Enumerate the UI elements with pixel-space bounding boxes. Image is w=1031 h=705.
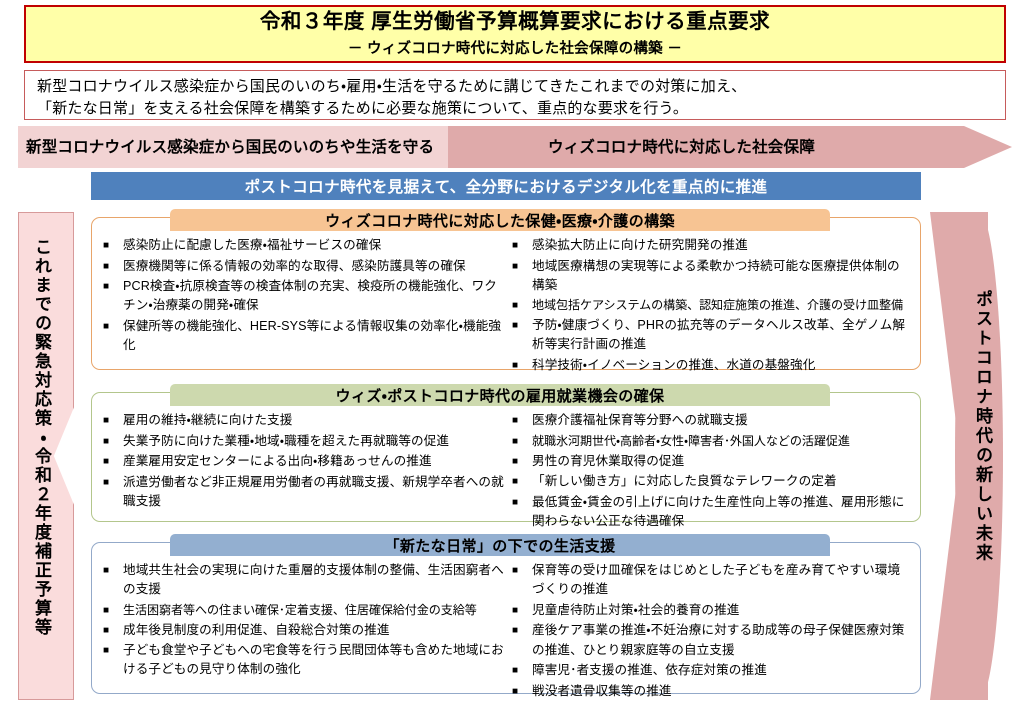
band-label-social-security: ウィズコロナ時代に対応した社会保障 [548,135,815,157]
bullet-square-icon: ■ [512,684,532,699]
list-item: ■生活困窮者等への住まい確保･定着支援、住居確保給付金の支給等 [103,601,505,619]
bullet-square-icon: ■ [512,663,532,678]
lead-line-2: 「新たな日常」を支える社会保障を構築するために必要な施策について、重点的な要求を… [37,98,995,120]
bullet-square-icon: ■ [103,563,123,578]
section-header-health-medical-care: ウィズコロナ時代に対応した保健・医療・介護の構築 [170,209,830,231]
bullet-square-icon: ■ [103,643,123,658]
transition-arrow-band: 新型コロナウイルス感染症から国民のいのちや生活を守る ウィズコロナ時代に対応した… [18,126,1012,168]
section-3-left-column: ■地域共生社会の実現に向けた重層的支援体制の整備、生活困窮者への支援 ■生活困窮… [103,561,505,681]
list-item: ■医療機関等に係る情報の効率的な取得、感染防護具等の確保 [103,257,505,276]
list-item: ■男性の育児休業取得の促進 [512,452,912,471]
bullet-square-icon: ■ [103,603,123,618]
list-item: ■予防・健康づくり、PHRの拡充等のデータヘルス改革、全ゲノム解析等実行計画の推… [512,316,912,354]
list-item: ■地域包括ケアシステムの構築、認知症施策の推進、介護の受け皿整備 [512,296,912,314]
lead-line-1: 新型コロナウイルス感染症から国民のいのち・雇用・生活を守るために講じてきたこれま… [37,76,995,98]
left-vertical-arrow-label: これまでの緊急対応策・令和２年度補正予算等 [24,238,50,678]
page-subtitle: － ウィズコロナ時代に対応した社会保障の構築 － [348,37,682,58]
bullet-square-icon: ■ [103,279,123,294]
section-header-employment-opportunity: ウィズ・ポストコロナ時代の雇用就業機会の確保 [170,384,830,406]
bullet-square-icon: ■ [103,623,123,638]
bullet-square-icon: ■ [103,413,123,428]
bullet-square-icon: ■ [103,259,123,274]
bullet-square-icon: ■ [512,298,532,313]
bullet-square-icon: ■ [512,563,532,578]
list-item: ■障害児･者支援の推進、依存症対策の推進 [512,661,912,680]
list-item: ■成年後見制度の利用促進、自殺総合対策の推進 [103,621,505,640]
infographic-page: 令和３年度 厚生労働省予算概算要求における重点要求 － ウィズコロナ時代に対応し… [0,0,1031,705]
list-item: ■科学技術・イノベーションの推進、水道の基盤強化 [512,356,912,375]
bullet-square-icon: ■ [103,475,123,490]
section-2-left-column: ■雇用の維持・継続に向けた支援 ■失業予防に向けた業種・地域・職種を超えた再就職… [103,411,505,513]
bullet-square-icon: ■ [512,413,532,428]
bullet-square-icon: ■ [512,434,532,449]
bullet-square-icon: ■ [103,319,123,334]
list-item: ■失業予防に向けた業種・地域・職種を超えた再就職等の促進 [103,432,505,451]
list-item: ■戦没者遺骨収集等の推進 [512,682,912,701]
bullet-square-icon: ■ [103,238,123,253]
section-1-right-column: ■感染拡大防止に向けた研究開発の推進 ■地域医療構想の実現等による柔軟かつ持続可… [512,236,912,377]
list-item: ■保育等の受け皿確保をはじめとした子どもを産み育てやすい環境づくりの推進 [512,561,912,599]
section-2-right-column: ■医療介護福祉保育等分野への就職支援 ■就職氷河期世代・高齢者・女性・障害者･外… [512,411,912,533]
list-item: ■地域共生社会の実現に向けた重層的支援体制の整備、生活困窮者への支援 [103,561,505,599]
digital-promotion-label: ポストコロナ時代を見据えて、全分野におけるデジタル化を重点的に推進 [245,175,768,197]
list-item: ■就職氷河期世代・高齢者・女性・障害者･外国人などの活躍促進 [512,432,912,450]
bullet-square-icon: ■ [512,495,532,510]
list-item: ■最低賃金・賃金の引上げに向けた生産性向上等の推進、雇用形態に関わらない公正な待… [512,493,912,531]
list-item: ■産業雇用安定センターによる出向・移籍あっせんの推進 [103,452,505,471]
bullet-square-icon: ■ [512,358,532,373]
list-item: ■「新しい働き方」に対応した良質なテレワークの定着 [512,472,912,491]
list-item: ■産後ケア事業の推進・不妊治療に対する助成等の母子保健医療対策の推進、ひとり親家… [512,621,912,659]
page-title: 令和３年度 厚生労働省予算概算要求における重点要求 [260,10,770,34]
section-header-label: 「新たな日常」の下での生活支援 [384,535,615,556]
bullet-square-icon: ■ [103,454,123,469]
list-item: ■児童虐待防止対策・社会的養育の推進 [512,601,912,620]
bullet-square-icon: ■ [512,454,532,469]
band-label-protect-lives: 新型コロナウイルス感染症から国民のいのちや生活を守る [26,135,434,157]
right-vertical-arrow-label: ポストコロナ時代の新しい未来 [967,290,991,630]
bullet-square-icon: ■ [512,238,532,253]
list-item: ■地域医療構想の実現等による柔軟かつ持続可能な医療提供体制の構築 [512,257,912,295]
list-item: ■派遣労働者など非正規雇用労働者の再就職支援、新規学卒者への就職支援 [103,473,505,511]
list-item: ■保健所等の機能強化、HER-SYS等による情報収集の効率化・機能強化 [103,317,505,355]
section-1-left-column: ■感染防止に配慮した医療・福祉サービスの確保 ■医療機関等に係る情報の効率的な取… [103,236,505,357]
digital-promotion-bar: ポストコロナ時代を見据えて、全分野におけるデジタル化を重点的に推進 [91,172,921,200]
section-header-new-normal-living-support: 「新たな日常」の下での生活支援 [170,534,830,556]
bullet-square-icon: ■ [512,474,532,489]
bullet-square-icon: ■ [512,259,532,274]
section-header-label: ウィズコロナ時代に対応した保健・医療・介護の構築 [325,210,675,231]
list-item: ■PCR検査・抗原検査等の検査体制の充実、検疫所の機能強化、ワクチン・治療薬の開… [103,277,505,315]
list-item: ■感染防止に配慮した医療・福祉サービスの確保 [103,236,505,255]
list-item: ■医療介護福祉保育等分野への就職支援 [512,411,912,430]
list-item: ■雇用の維持・継続に向けた支援 [103,411,505,430]
section-header-label: ウィズ・ポストコロナ時代の雇用就業機会の確保 [336,385,665,406]
bullet-square-icon: ■ [512,623,532,638]
bullet-square-icon: ■ [512,318,532,333]
section-3-right-column: ■保育等の受け皿確保をはじめとした子どもを産み育てやすい環境づくりの推進 ■児童… [512,561,912,702]
bullet-square-icon: ■ [103,434,123,449]
lead-paragraph-box: 新型コロナウイルス感染症から国民のいのち・雇用・生活を守るために講じてきたこれま… [24,70,1006,120]
list-item: ■感染拡大防止に向けた研究開発の推進 [512,236,912,255]
list-item: ■子ども食堂や子どもへの宅食等を行う民間団体等も含めた地域における子どもの見守り… [103,641,505,679]
title-box: 令和３年度 厚生労働省予算概算要求における重点要求 － ウィズコロナ時代に対応し… [24,5,1006,63]
bullet-square-icon: ■ [512,603,532,618]
